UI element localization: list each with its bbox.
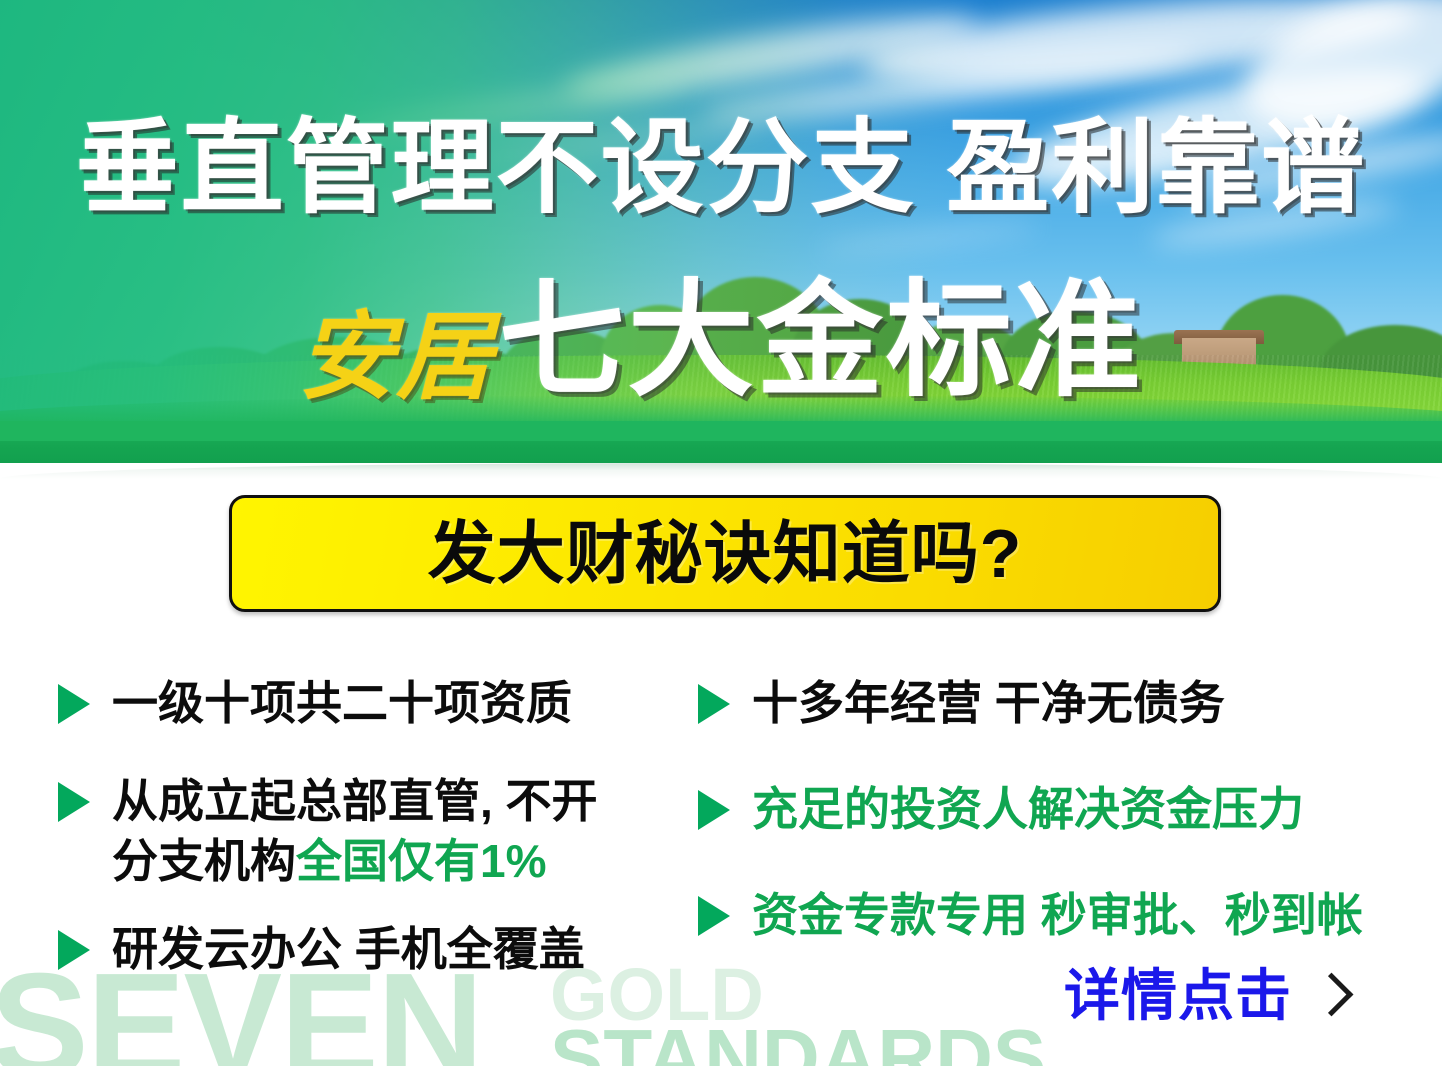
hero-subtitle-main: 七大金标准 [499,278,1144,404]
bullet-text: 十多年经营 干净无债务 [752,674,1225,734]
triangle-bullet-icon [58,782,90,822]
watermark-standards: STANDARDS [550,1018,1046,1066]
details-cta-label: 详情点击 [1064,968,1292,1024]
hero-banner: 垂直管理不设分支 盈利靠谱 安居 七大金标准 [0,0,1442,463]
chevron-right-icon [1314,972,1340,1020]
bullet-text: 充足的投资人解决资金压力 [752,780,1304,840]
advertisement-poster: 垂直管理不设分支 盈利靠谱 安居 七大金标准 发大财秘诀知道吗? 一级十项共二十… [0,0,1442,1066]
hero-headline: 垂直管理不设分支 盈利靠谱 [0,116,1442,219]
details-cta-button[interactable]: 详情点击 [1064,968,1340,1024]
list-item: 一级十项共二十项资质 [58,674,572,734]
list-item: 从成立起总部直管, 不开 分支机构全国仅有1% [58,772,598,892]
triangle-bullet-icon [58,930,90,970]
bullet-text: 资金专款专用 秒审批、秒到帐 [752,886,1363,946]
hero-bottom-strip [0,421,1442,463]
list-item: 充足的投资人解决资金压力 [698,780,1304,840]
bullet-text: 从成立起总部直管, 不开 分支机构全国仅有1% [112,772,598,892]
list-item: 十多年经营 干净无债务 [698,674,1225,734]
hero-subtitle: 安居 七大金标准 [0,278,1442,406]
bullet-text: 一级十项共二十项资质 [112,674,572,734]
hero-dropshadow [0,463,1442,479]
list-item: 资金专款专用 秒审批、秒到帐 [698,886,1363,946]
headline-callout-banner[interactable]: 发大财秘诀知道吗? [229,495,1221,612]
bullet-text-line2-prefix: 分支机构 [112,835,296,887]
bullet-text: 研发云办公 手机全覆盖 [112,920,585,980]
hero-subtitle-brand: 安居 [298,310,494,406]
feature-bullet-grid: 一级十项共二十项资质 从成立起总部直管, 不开 分支机构全国仅有1% 研发云办公… [0,668,1442,988]
bullet-text-line1: 从成立起总部直管, 不开 [112,775,598,827]
triangle-bullet-icon [58,684,90,724]
bullet-text-line2: 分支机构全国仅有1% [112,832,598,892]
triangle-bullet-icon [698,790,730,830]
headline-callout-text: 发大财秘诀知道吗? [428,520,1023,588]
list-item: 研发云办公 手机全覆盖 [58,920,585,980]
triangle-bullet-icon [698,896,730,936]
triangle-bullet-icon [698,684,730,724]
bullet-text-highlight: 全国仅有1% [296,835,546,887]
